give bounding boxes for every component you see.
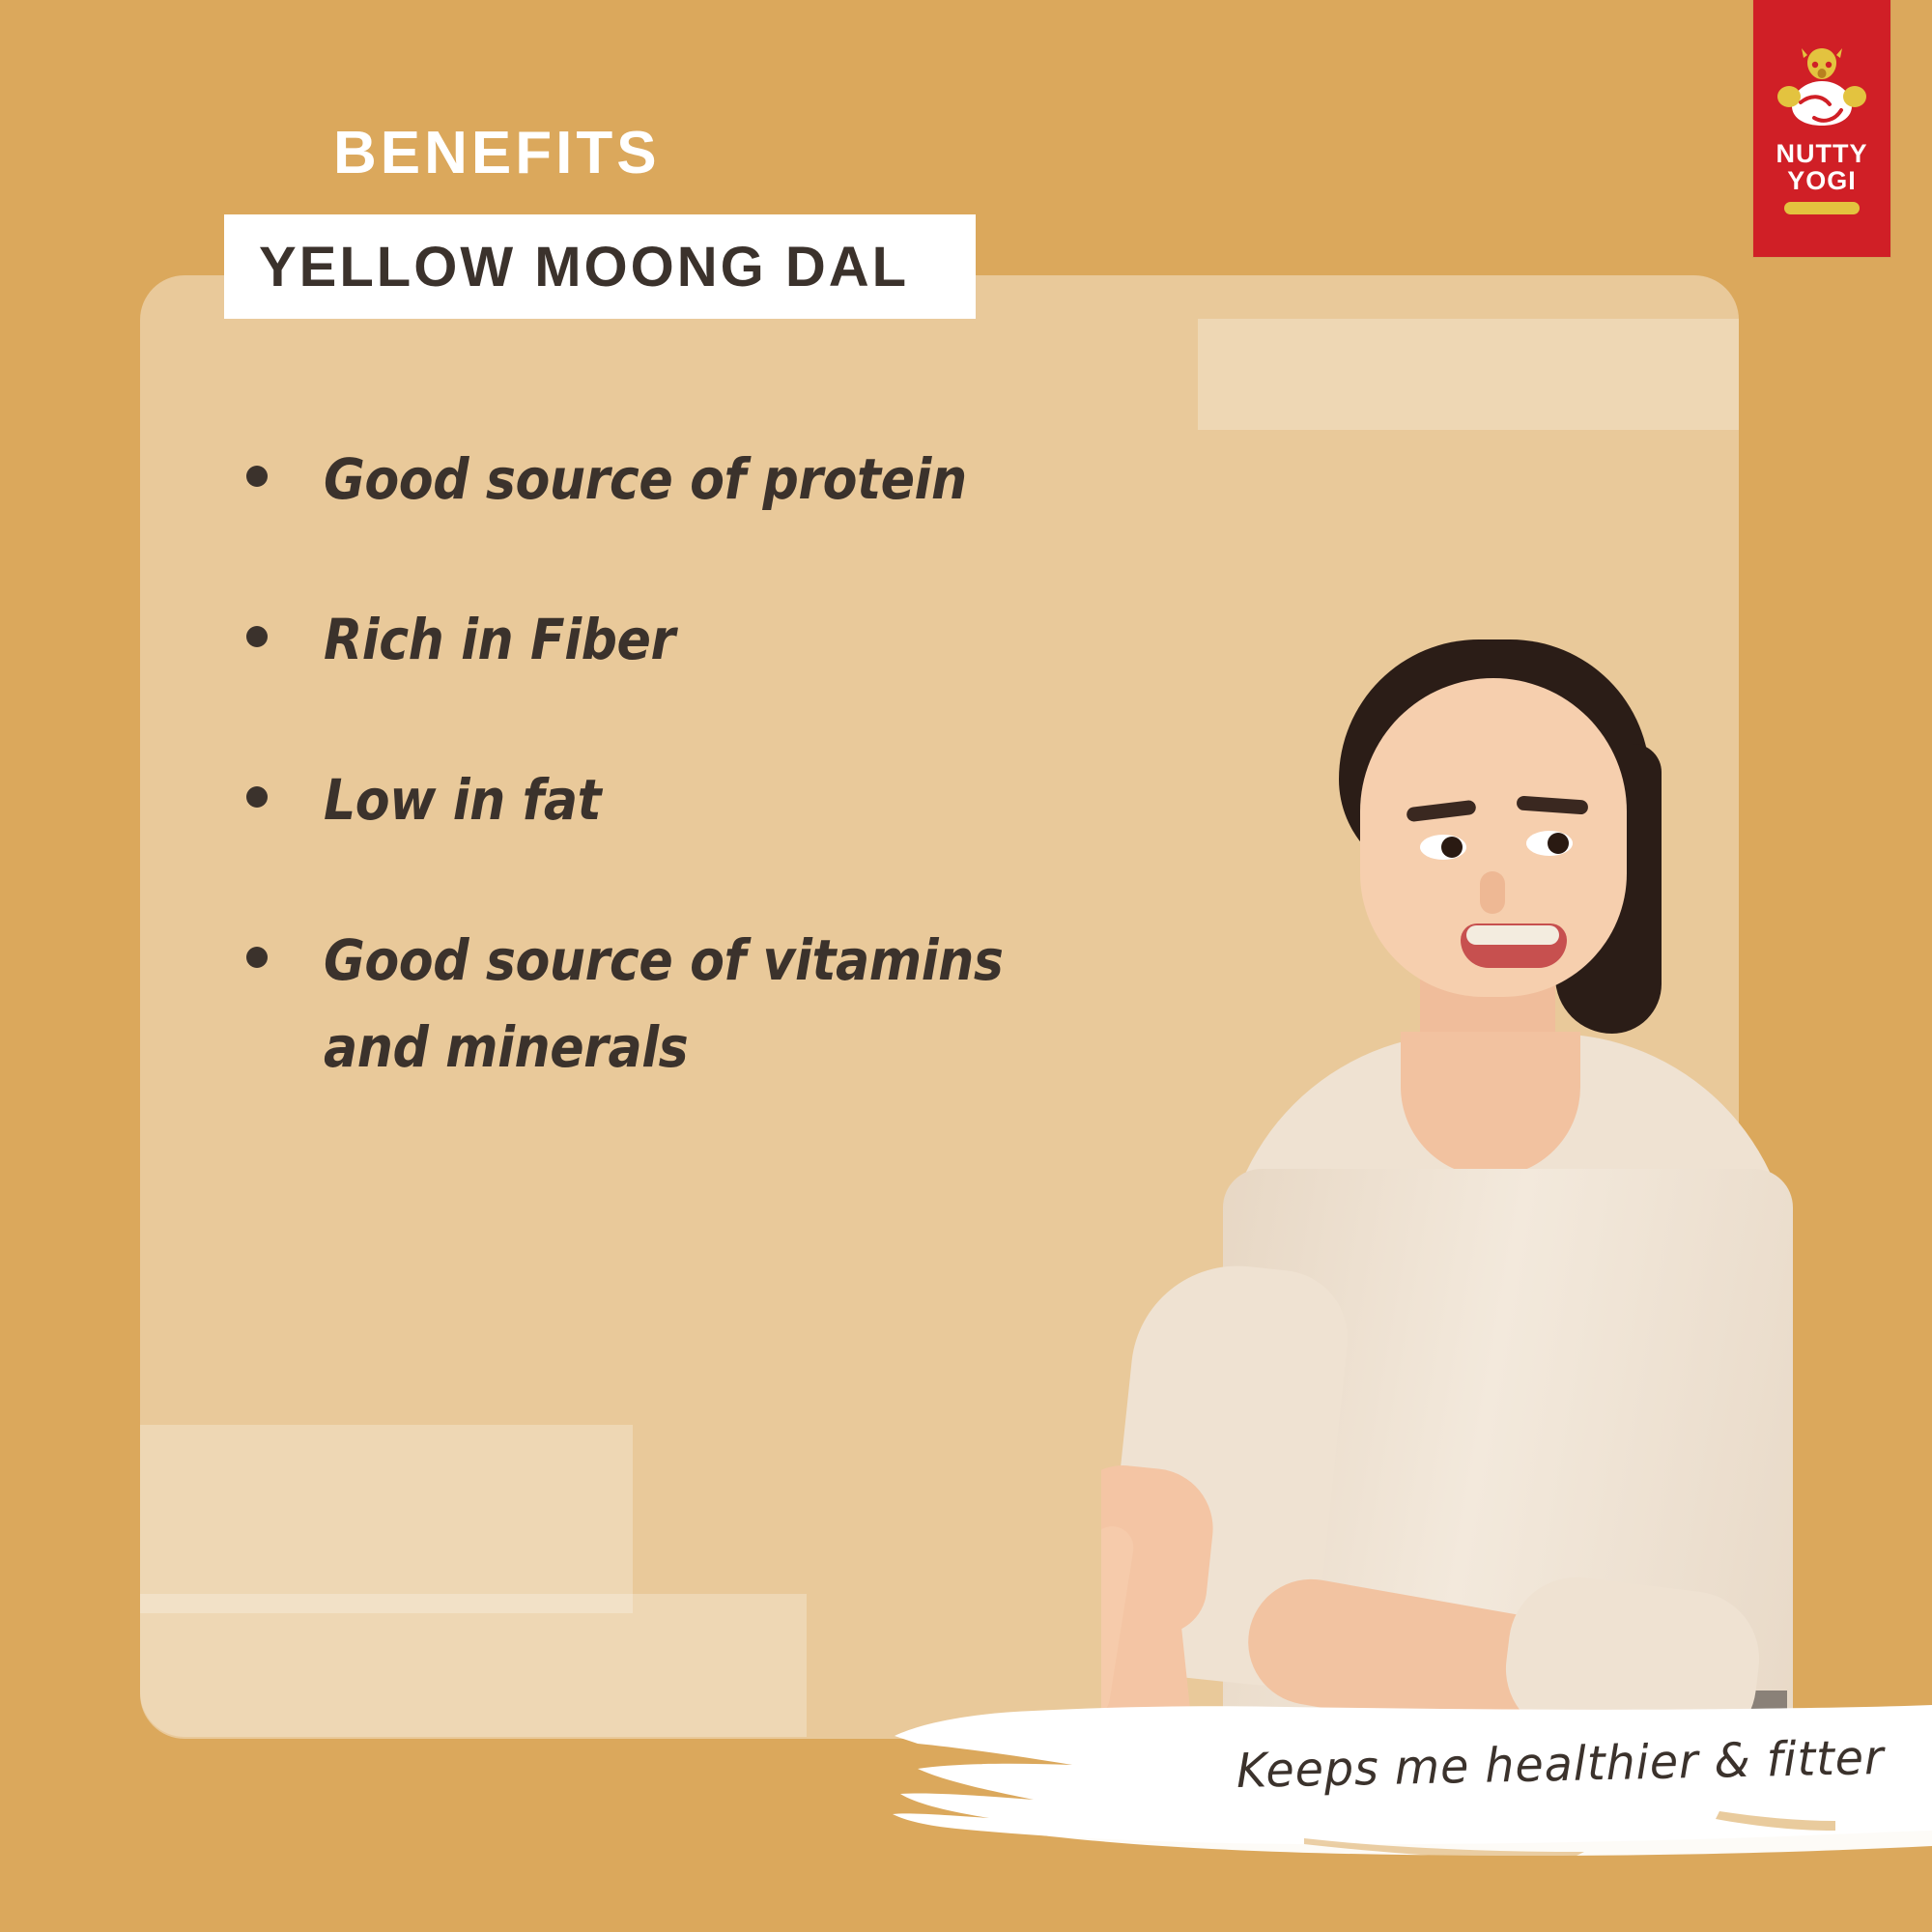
brand-name: NUTTY YOGI <box>1776 141 1868 194</box>
brand-logo[interactable]: NUTTY YOGI <box>1753 0 1890 257</box>
list-item-label: Rich in Fiber <box>324 597 675 684</box>
list-item-label: Good source of protein <box>324 437 967 524</box>
bullet-dot-icon <box>246 466 268 487</box>
list-item: Good source of vitamins and minerals <box>246 918 1154 1092</box>
brand-name-line-1: NUTTY <box>1776 141 1868 168</box>
model-teeth <box>1466 925 1559 945</box>
model-pupil-left <box>1441 837 1463 858</box>
list-item-label: Low in fat <box>324 757 601 844</box>
eyebrow-heading: BENEFITS <box>333 124 661 184</box>
model-nose <box>1480 871 1505 914</box>
page-title: YELLOW MOONG DAL <box>259 235 909 299</box>
list-item-label: Good source of vitamins and minerals <box>324 918 1003 1092</box>
yogi-figure-icon <box>1772 46 1872 137</box>
brand-name-line-2: YOGI <box>1776 168 1868 195</box>
product-title-tag: YELLOW MOONG DAL <box>224 214 976 319</box>
bullet-dot-icon <box>246 786 268 808</box>
model-mouth <box>1461 923 1567 968</box>
poster-canvas: BENEFITS YELLOW MOONG DAL Good source of… <box>0 0 1932 1932</box>
model-hand <box>1101 1460 1219 1638</box>
model-photo <box>1101 628 1932 1787</box>
bullet-dot-icon <box>246 626 268 647</box>
list-item: Rich in Fiber <box>246 597 1154 684</box>
brand-underline <box>1784 202 1860 214</box>
list-item: Good source of protein <box>246 437 1154 524</box>
benefits-list: Good source of protein Rich in Fiber Low… <box>246 437 1154 1091</box>
list-item: Low in fat <box>246 757 1154 844</box>
bullet-dot-icon <box>246 947 268 968</box>
model-pupil-right <box>1548 833 1569 854</box>
